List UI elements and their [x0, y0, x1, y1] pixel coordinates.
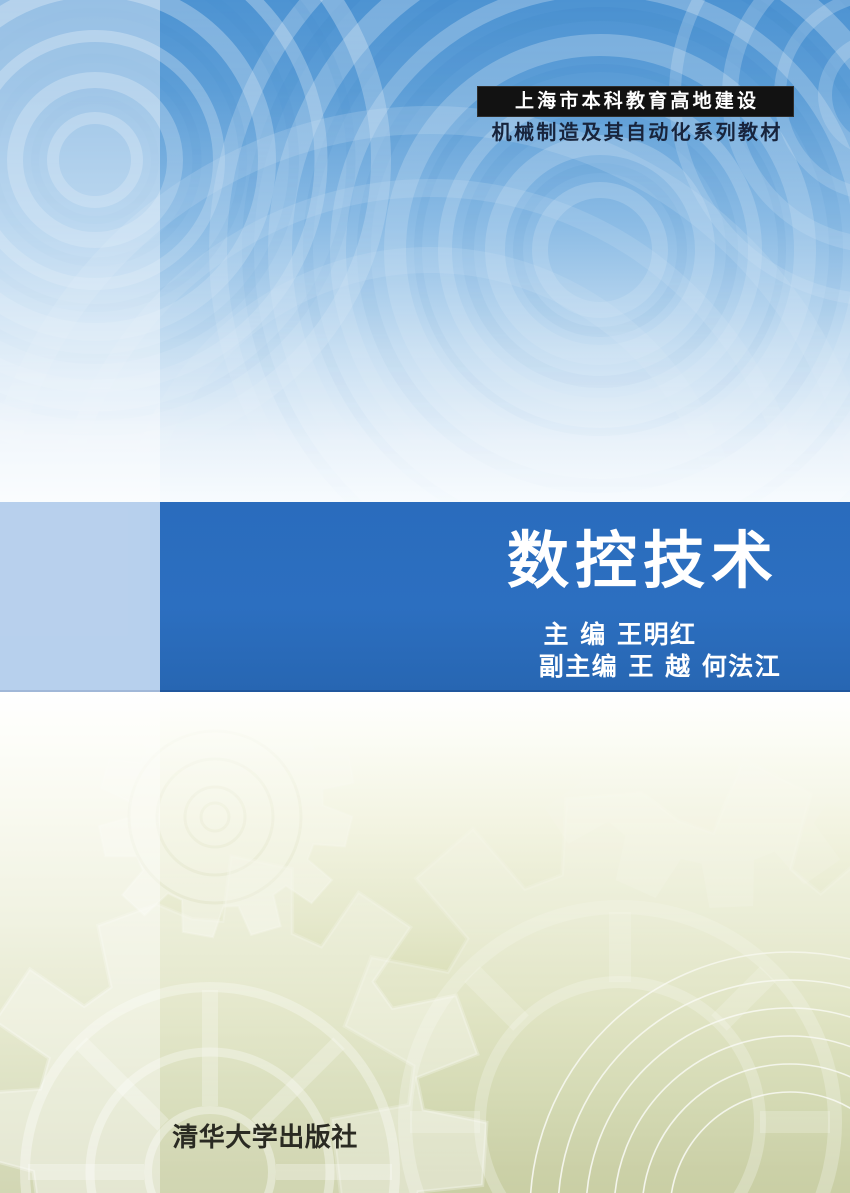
gear-decoration: [0, 692, 850, 1193]
series-banner: 上海市本科教育高地建设: [477, 86, 794, 117]
series-subtitle: 机械制造及其自动化系列教材: [466, 121, 806, 143]
band-left-light-block: [0, 502, 160, 692]
associate-editor-line: 副主编 王 越 何法江: [440, 653, 850, 682]
chief-editor-line: 主 编 王明红: [440, 621, 800, 650]
bottom-olive-panel: [0, 692, 850, 1193]
series-banner-label: 上海市本科教育高地建设: [512, 92, 759, 111]
page-title: 数控技术: [440, 527, 840, 595]
top-blue-panel: [0, 0, 850, 502]
ripple-decoration: [0, 0, 850, 502]
publisher-name: 清华大学出版社: [150, 1124, 380, 1153]
book-cover: 上海市本科教育高地建设 机械制造及其自动化系列教材 数控技术 主 编 王明红 副…: [0, 0, 850, 1193]
